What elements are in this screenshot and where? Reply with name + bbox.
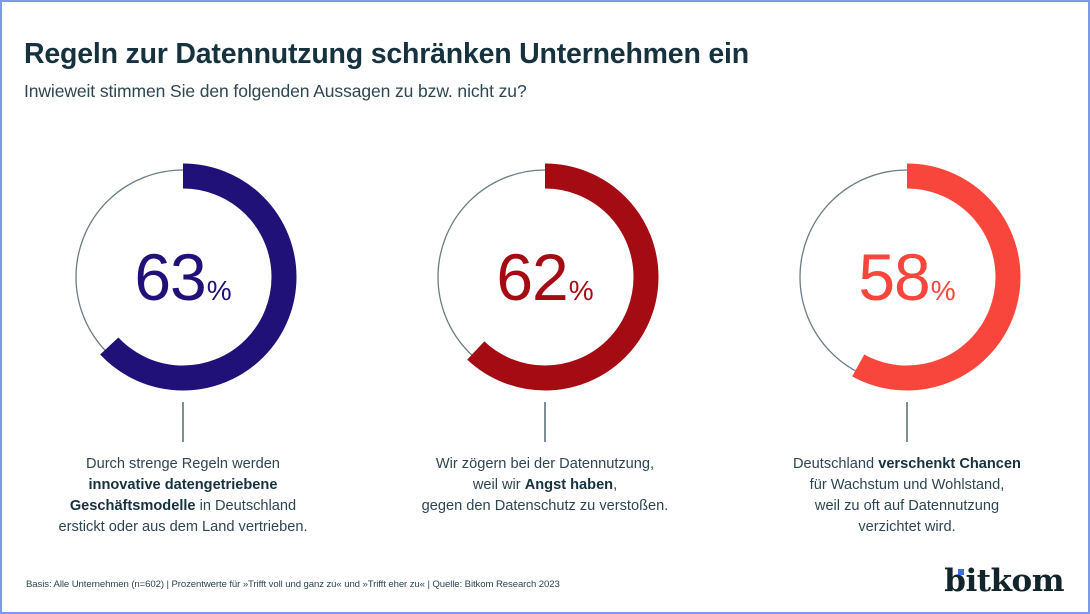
gauge-caption-0: Durch strenge Regeln werdeninnovative da… [58,454,307,564]
page-subtitle: Inwieweit stimmen Sie den folgenden Auss… [24,81,527,102]
gauge-item-0: 63 % [2,152,364,442]
caption-col-2: Deutschland verschenkt Chancenfür Wachst… [726,454,1088,564]
donut-chart-2: 58 % [782,152,1032,402]
gauge-item-2: 58 % [726,152,1088,442]
gauge-value-2: 58 [858,244,929,310]
gauge-item-1: 62 % [364,152,726,442]
connector-line-2 [906,402,908,442]
gauge-group: 63 % 62 % [2,152,1088,442]
donut-chart-0: 63 % [58,152,308,402]
bitkom-logo-dot-icon [958,569,964,575]
gauge-value-0: 63 [134,244,205,310]
gauge-percent-symbol-2: % [931,277,956,305]
gauge-caption-2: Deutschland verschenkt Chancenfür Wachst… [793,454,1021,564]
connector-line-0 [182,402,184,442]
source-note: Basis: Alle Unternehmen (n=602) | Prozen… [26,579,560,590]
gauge-percent-symbol-1: % [569,277,594,305]
bitkom-logo: bitkom [944,564,1064,598]
page-title: Regeln zur Datennutzung schränken Untern… [24,38,749,71]
donut-label-2: 58 % [782,152,1032,402]
caption-col-1: Wir zögern bei der Datennutzung,weil wir… [364,454,726,564]
gauge-caption-1: Wir zögern bei der Datennutzung,weil wir… [422,454,669,564]
infographic-page: Regeln zur Datennutzung schränken Untern… [0,0,1090,614]
donut-label-1: 62 % [420,152,670,402]
donut-label-0: 63 % [58,152,308,402]
caption-group: Durch strenge Regeln werdeninnovative da… [2,454,1088,564]
donut-chart-1: 62 % [420,152,670,402]
connector-line-1 [544,402,546,442]
gauge-percent-symbol-0: % [207,277,232,305]
caption-col-0: Durch strenge Regeln werdeninnovative da… [2,454,364,564]
gauge-value-1: 62 [496,244,567,310]
